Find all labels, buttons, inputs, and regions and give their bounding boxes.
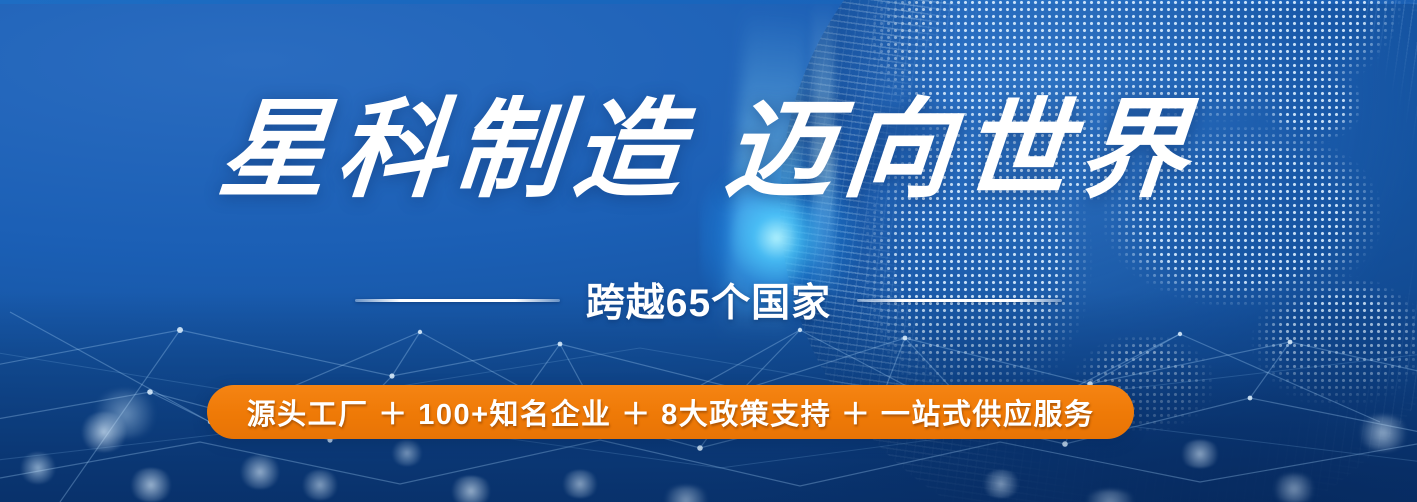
promo-banner: 星科制造迈向世界 跨越65个国家 源头工厂 ＋ 100+知名企业 ＋ 8大政策支… bbox=[0, 0, 1417, 502]
banner-title: 星科制造迈向世界 bbox=[0, 92, 1417, 209]
subtitle-row: 跨越65个国家 bbox=[0, 272, 1417, 328]
banner-title-left: 星科制造 bbox=[214, 87, 697, 213]
divider-line-left bbox=[355, 299, 560, 302]
features-pill[interactable]: 源头工厂 ＋ 100+知名企业 ＋ 8大政策支持 ＋ 一站式供应服务 bbox=[207, 385, 1134, 439]
features-pill-label: 源头工厂 ＋ 100+知名企业 ＋ 8大政策支持 ＋ 一站式供应服务 bbox=[247, 391, 1095, 433]
banner-title-right: 迈向世界 bbox=[720, 87, 1203, 213]
divider-line-right bbox=[857, 299, 1062, 302]
banner-content: 星科制造迈向世界 跨越65个国家 源头工厂 ＋ 100+知名企业 ＋ 8大政策支… bbox=[0, 0, 1417, 502]
banner-subtitle: 跨越65个国家 bbox=[586, 272, 831, 328]
